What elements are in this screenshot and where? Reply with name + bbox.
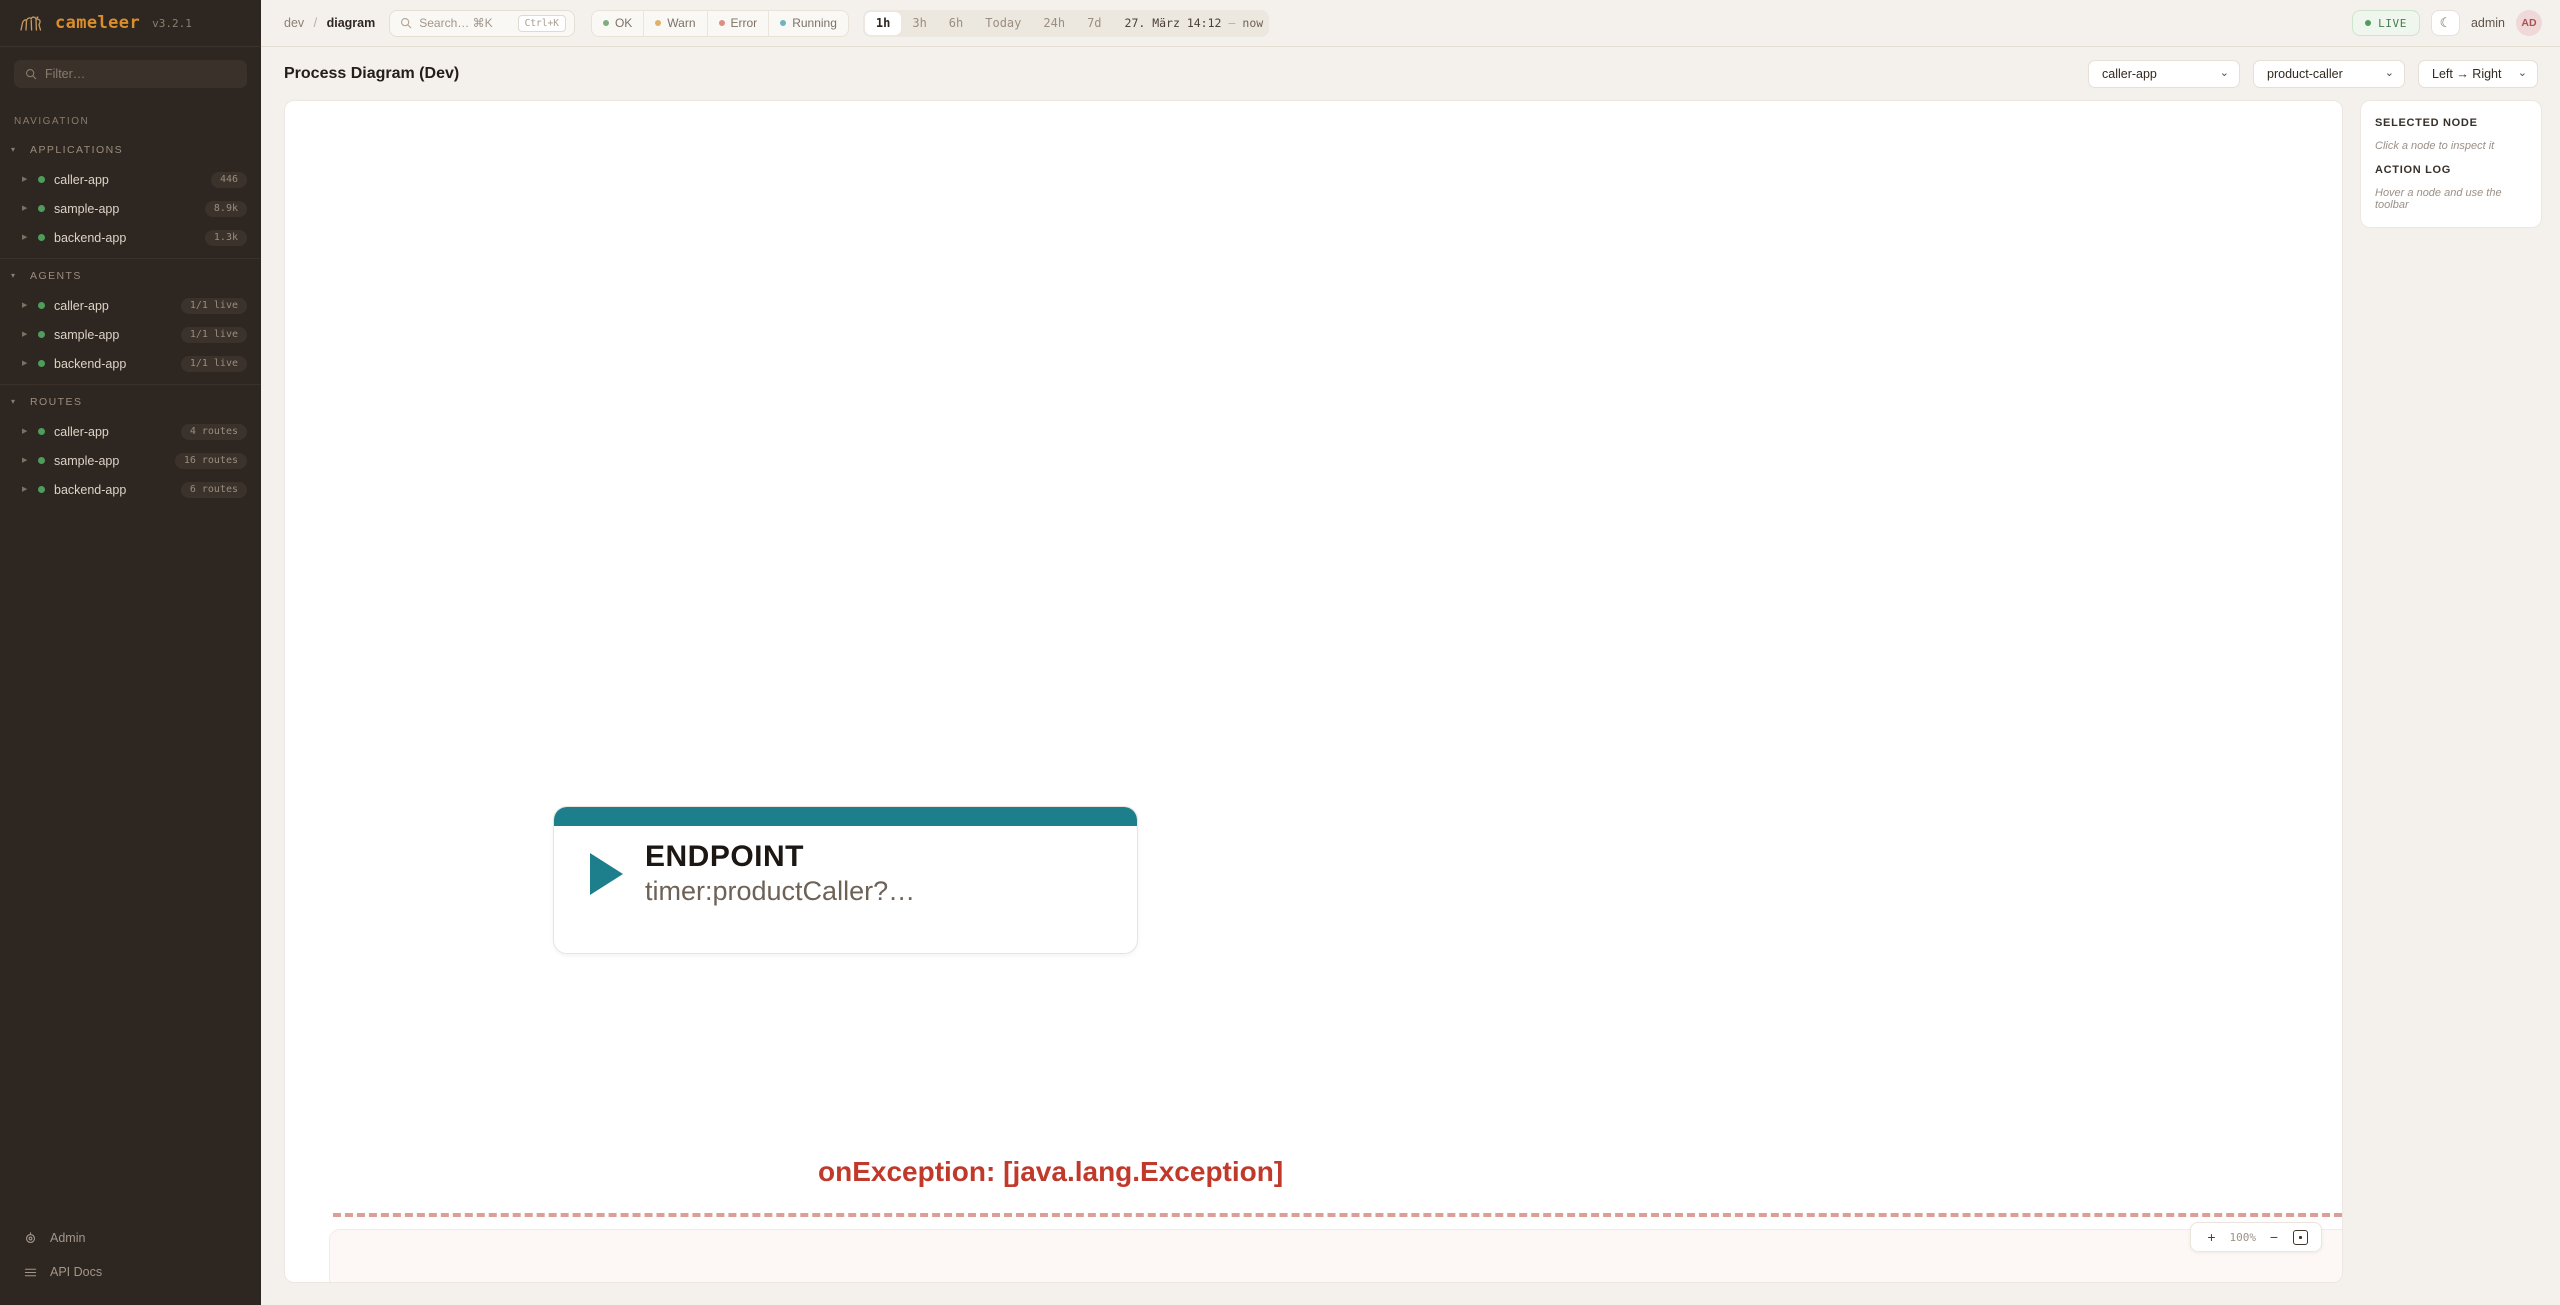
brand-name: cameleer [55, 13, 140, 33]
page-title: Process Diagram (Dev) [284, 65, 459, 83]
chevron-right-icon: ▶ [22, 486, 29, 493]
inspector-panel: SELECTED NODE Click a node to inspect it… [2360, 100, 2542, 228]
status-dot [38, 205, 45, 212]
zoom-level-label: 100% [2225, 1231, 2262, 1244]
status-dot [38, 486, 45, 493]
nav-group-label: ROUTES [30, 396, 82, 408]
chevron-right-icon: ▶ [22, 428, 29, 435]
status-dot [38, 176, 45, 183]
content-row: ENDPOINT timer:productCaller?… onExcepti… [261, 100, 2560, 1305]
time-range-from: 27. März 14:12 [1125, 16, 1222, 30]
app-root: cameleer v3.2.1 NAVIGATION ▾ APPLICATION… [0, 0, 2560, 1305]
status-filter-label: Error [731, 16, 758, 30]
exception-block-divider [333, 1213, 2342, 1217]
sidebar-item-agents-sample-app[interactable]: ▶ sample-app 1/1 live [0, 320, 261, 349]
sidebar-item-label: backend-app [54, 231, 196, 245]
sidebar-item-admin[interactable]: Admin [0, 1221, 261, 1255]
application-select-value: caller-app [2102, 67, 2210, 81]
diagram-canvas[interactable]: ENDPOINT timer:productCaller?… onExcepti… [284, 100, 2343, 1283]
sidebar-item-label: sample-app [54, 328, 172, 342]
search-shortcut-badge: Ctrl+K [518, 15, 566, 32]
sidebar: cameleer v3.2.1 NAVIGATION ▾ APPLICATION… [0, 0, 261, 1305]
chevron-right-icon: ▶ [22, 360, 29, 367]
selected-node-hint: Click a node to inspect it [2375, 140, 2527, 152]
application-select[interactable]: caller-app ⌄ [2088, 60, 2240, 88]
sidebar-item-badge: 1/1 live [181, 298, 247, 314]
chevron-down-icon: ▾ [11, 272, 19, 280]
breadcrumb-current: diagram [327, 16, 376, 30]
time-range-display[interactable]: 27. März 14:12 — now [1113, 16, 1268, 30]
node-kind-label: ENDPOINT [645, 840, 915, 875]
chevron-down-icon: ▾ [11, 146, 19, 154]
brand-header[interactable]: cameleer v3.2.1 [0, 0, 261, 47]
nav-group-applications-header[interactable]: ▾ APPLICATIONS [0, 137, 261, 165]
sidebar-item-badge: 8.9k [205, 201, 247, 217]
sidebar-item-routes-backend-app[interactable]: ▶ backend-app 6 routes [0, 475, 261, 504]
time-range-group: 1h 3h 6h Today 24h 7d 27. März 14:12 — n… [863, 10, 1269, 37]
status-dot [38, 360, 45, 367]
sidebar-item-label: caller-app [54, 173, 202, 187]
diagram-node-endpoint[interactable]: ENDPOINT timer:productCaller?… [553, 806, 1138, 954]
status-dot-warn [655, 20, 661, 26]
main-area: dev / diagram Search… ⌘K Ctrl+K OK [261, 0, 2560, 1305]
sidebar-item-badge: 1/1 live [181, 327, 247, 343]
sidebar-item-badge: 6 routes [181, 482, 247, 498]
status-dot [38, 234, 45, 241]
chevron-right-icon: ▶ [22, 176, 29, 183]
sidebar-item-badge: 446 [211, 172, 247, 188]
search-icon [400, 17, 412, 29]
sidebar-item-api-docs[interactable]: API Docs [0, 1255, 261, 1289]
chevron-right-icon: ▶ [22, 234, 29, 241]
node-accent-bar [554, 807, 1137, 826]
nav-group-label: AGENTS [30, 270, 82, 282]
global-search[interactable]: Search… ⌘K Ctrl+K [389, 10, 575, 37]
chevron-right-icon: ▶ [22, 457, 29, 464]
time-range-7d[interactable]: 7d [1076, 12, 1112, 35]
status-dot [38, 302, 45, 309]
live-label: LIVE [2378, 17, 2407, 30]
sidebar-item-badge: 16 routes [175, 453, 247, 469]
moon-icon: ☾ [2440, 15, 2452, 31]
sidebar-footer-label: Admin [50, 1231, 85, 1245]
node-uri-label: timer:productCaller?… [645, 875, 915, 909]
sidebar-item-label: backend-app [54, 483, 172, 497]
chevron-down-icon: ⌄ [2518, 68, 2527, 79]
topbar-right: LIVE ☾ admin AD [2352, 10, 2542, 36]
time-range-6h[interactable]: 6h [938, 12, 974, 35]
gear-icon [24, 1232, 37, 1245]
sidebar-item-label: backend-app [54, 357, 172, 371]
status-dot [38, 457, 45, 464]
breadcrumb: dev / diagram [284, 16, 375, 30]
status-dot [38, 428, 45, 435]
chevron-down-icon: ⌄ [2220, 68, 2229, 79]
sidebar-item-routes-caller-app[interactable]: ▶ caller-app 4 routes [0, 417, 261, 446]
selected-node-title: SELECTED NODE [2375, 117, 2527, 129]
action-log-title: ACTION LOG [2375, 164, 2527, 176]
zoom-controls: + 100% − [2190, 1222, 2323, 1252]
chevron-right-icon: ▶ [22, 205, 29, 212]
fit-to-screen-icon [2293, 1230, 2308, 1245]
breadcrumb-separator: / [314, 16, 317, 30]
status-filter-label: Running [792, 16, 837, 30]
chevron-down-icon: ▾ [11, 398, 19, 406]
status-filter-running[interactable]: Running [769, 11, 848, 36]
theme-toggle-button[interactable]: ☾ [2431, 10, 2460, 36]
nav-group-agents-header[interactable]: ▾ AGENTS [0, 263, 261, 291]
exception-block-region: TRACE [329, 1229, 2343, 1283]
live-toggle[interactable]: LIVE [2352, 10, 2420, 36]
search-icon [25, 68, 37, 80]
camel-icon [18, 11, 44, 35]
nav-group-routes-header[interactable]: ▾ ROUTES [0, 389, 261, 417]
time-range-to: now [1242, 16, 1263, 30]
zoom-out-button[interactable]: − [2261, 1224, 2287, 1250]
sidebar-item-applications-backend-app[interactable]: ▶ backend-app 1.3k [0, 223, 261, 252]
status-filter-label: OK [615, 16, 632, 30]
avatar-initials: AD [2521, 17, 2536, 29]
chevron-down-icon: ⌄ [2385, 68, 2394, 79]
status-filter-ok[interactable]: OK [592, 11, 644, 36]
status-dot [38, 331, 45, 338]
sidebar-item-badge: 1.3k [205, 230, 247, 246]
time-range-dash: — [1228, 16, 1235, 30]
sidebar-item-badge: 4 routes [181, 424, 247, 440]
sidebar-footer: Admin API Docs [0, 1221, 261, 1305]
search-placeholder: Search… ⌘K [419, 16, 492, 30]
sidebar-footer-label: API Docs [50, 1265, 102, 1279]
nav-section-title: NAVIGATION [0, 108, 261, 137]
brand-version: v3.2.1 [152, 17, 192, 30]
sidebar-item-label: sample-app [54, 202, 196, 216]
sidebar-item-agents-caller-app[interactable]: ▶ caller-app 1/1 live [0, 291, 261, 320]
exception-block-label: onException: [java.lang.Exception] [818, 1156, 1283, 1188]
zoom-fit-button[interactable] [2287, 1224, 2313, 1250]
sidebar-item-applications-caller-app[interactable]: ▶ caller-app 446 [0, 165, 261, 194]
sidebar-item-label: sample-app [54, 454, 166, 468]
status-filter-group: OK Warn Error Running [591, 10, 849, 37]
time-range-3h[interactable]: 3h [901, 12, 937, 35]
sidebar-nav: NAVIGATION ▾ APPLICATIONS ▶ caller-app 4… [0, 98, 261, 1221]
status-filter-label: Warn [667, 16, 695, 30]
direction-select[interactable]: Left → Right ⌄ [2418, 60, 2538, 88]
user-name: admin [2471, 16, 2505, 30]
nav-group-applications: ▾ APPLICATIONS ▶ caller-app 446 ▶ sample… [0, 137, 261, 259]
page-header: Process Diagram (Dev) caller-app ⌄ produ… [261, 47, 2560, 100]
sidebar-item-agents-backend-app[interactable]: ▶ backend-app 1/1 live [0, 349, 261, 378]
sidebar-item-routes-sample-app[interactable]: ▶ sample-app 16 routes [0, 446, 261, 475]
sidebar-filter-input[interactable] [45, 67, 236, 81]
nav-group-routes: ▾ ROUTES ▶ caller-app 4 routes ▶ sample-… [0, 389, 261, 510]
sidebar-filter-box[interactable] [14, 60, 247, 88]
topbar: dev / diagram Search… ⌘K Ctrl+K OK [261, 0, 2560, 47]
chevron-right-icon: ▶ [22, 302, 29, 309]
status-dot-ok [603, 20, 609, 26]
node-text-group: ENDPOINT timer:productCaller?… [645, 840, 915, 908]
route-select-value: product-caller [2267, 67, 2375, 81]
action-log-hint: Hover a node and use the toolbar [2375, 187, 2527, 211]
route-select[interactable]: product-caller ⌄ [2253, 60, 2405, 88]
breadcrumb-root[interactable]: dev [284, 16, 304, 30]
time-range-1h[interactable]: 1h [865, 12, 901, 35]
status-dot-error [719, 20, 725, 26]
page-header-controls: caller-app ⌄ product-caller ⌄ Left → Rig… [2088, 60, 2538, 88]
nav-group-agents: ▾ AGENTS ▶ caller-app 1/1 live ▶ sample-… [0, 263, 261, 385]
time-range-24h[interactable]: 24h [1032, 12, 1076, 35]
status-filter-warn[interactable]: Warn [644, 11, 707, 36]
sidebar-filter-wrap [0, 47, 261, 98]
zoom-in-button[interactable]: + [2199, 1224, 2225, 1250]
time-range-today[interactable]: Today [974, 12, 1032, 35]
sidebar-item-label: caller-app [54, 425, 172, 439]
sidebar-item-label: caller-app [54, 299, 172, 313]
play-triangle-icon [590, 853, 623, 895]
status-dot-running [780, 20, 786, 26]
sidebar-item-badge: 1/1 live [181, 356, 247, 372]
nav-group-label: APPLICATIONS [30, 144, 123, 156]
list-icon [24, 1266, 37, 1279]
node-body: ENDPOINT timer:productCaller?… [554, 826, 1137, 908]
live-dot-icon [2365, 20, 2371, 26]
status-filter-error[interactable]: Error [708, 11, 770, 36]
sidebar-item-applications-sample-app[interactable]: ▶ sample-app 8.9k [0, 194, 261, 223]
direction-select-value: Left → Right [2432, 67, 2508, 81]
chevron-right-icon: ▶ [22, 331, 29, 338]
avatar[interactable]: AD [2516, 10, 2542, 36]
